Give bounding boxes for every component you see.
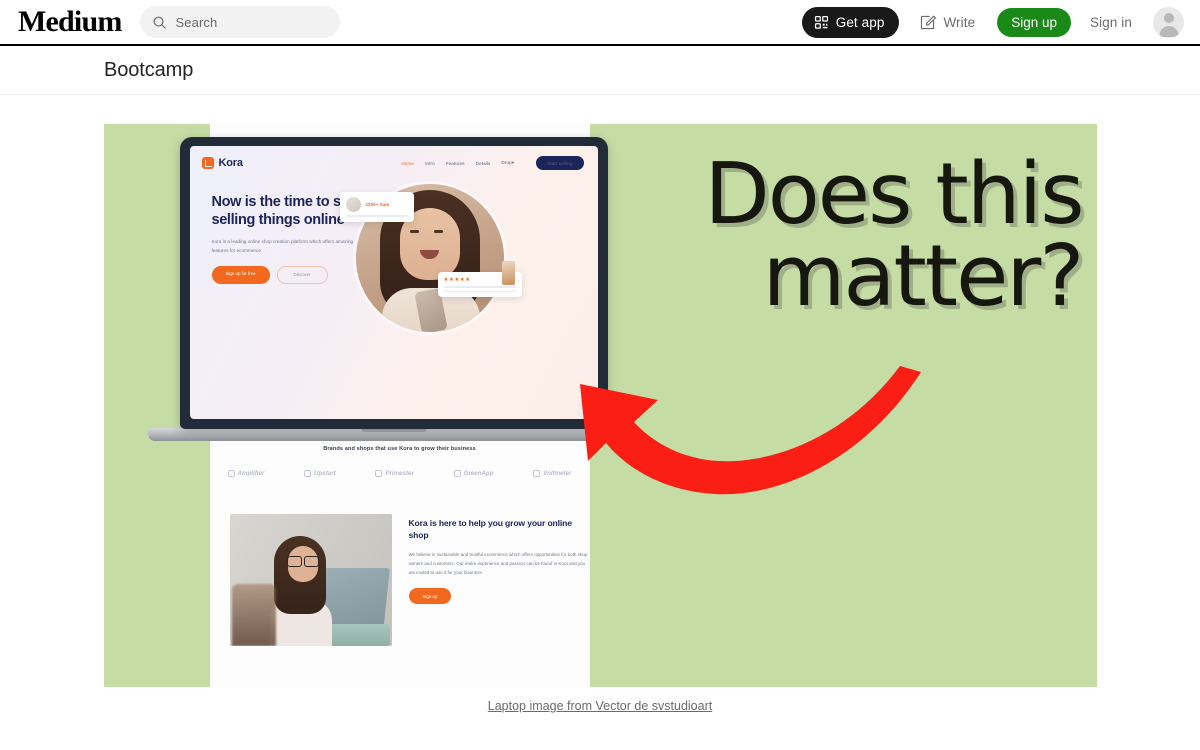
brand-icon [304, 470, 311, 477]
kora-logo-label: Kora [219, 157, 243, 169]
grow-shop-signup-button[interactable]: Sign up [409, 588, 452, 604]
grow-shop-title: Kora is here to help you grow your onlin… [409, 518, 590, 541]
write-button[interactable]: Write [919, 14, 975, 31]
woman-at-laptop-photo [230, 514, 392, 646]
write-label: Write [943, 15, 975, 30]
kora-nav-details[interactable]: Details [476, 161, 491, 166]
laptop-mockup: Kora Home Intro Features Details Drop▾ S… [180, 137, 608, 443]
chevron-down-icon: ▾ [512, 160, 514, 165]
kora-nav-home[interactable]: Home [401, 161, 414, 166]
figure-caption-link[interactable]: Laptop image from Vector de svstudioart [488, 699, 712, 713]
overlay-headline: Does this matter? [653, 154, 1083, 319]
brand-label: GreenApp [464, 470, 494, 477]
brand-logo-greenapp: GreenApp [454, 470, 494, 477]
sales-badge-label: 1200+ Sale [366, 202, 390, 207]
get-app-button[interactable]: Get app [802, 7, 900, 38]
brand-label: Upstart [314, 470, 336, 477]
review-product-thumbnail [502, 261, 515, 285]
kora-signup-free-button[interactable]: Sign up for free [212, 266, 270, 284]
search-input[interactable]: Search [140, 6, 340, 38]
kora-nav-links: Home Intro Features Details Drop▾ Start … [401, 156, 583, 170]
article-body: Brands and shops that use Kora to grow t… [0, 95, 1200, 713]
brand-icon [454, 470, 461, 477]
hero-image: Brands and shops that use Kora to grow t… [104, 124, 1097, 687]
brand-logo-amplifier: Amplifier [228, 470, 265, 477]
brand-icon [533, 470, 540, 477]
brand-label: Primester [385, 470, 414, 477]
brands-strip: Brands and shops that use Kora to grow t… [210, 446, 590, 477]
brand-logo-primester: Primester [375, 470, 414, 477]
photo-glasses [287, 556, 319, 565]
sign-up-button[interactable]: Sign up [997, 8, 1071, 37]
brand-icon [228, 470, 235, 477]
photo-eye-right [434, 230, 443, 233]
article-figure: Brands and shops that use Kora to grow t… [104, 124, 1097, 713]
sales-badge-thumbnail [346, 197, 361, 212]
kora-site-nav: Kora Home Intro Features Details Drop▾ S… [190, 146, 598, 180]
laptop-lid: Kora Home Intro Features Details Drop▾ S… [180, 137, 608, 429]
kora-logo-icon [202, 157, 214, 169]
placeholder-bar [444, 286, 516, 288]
brand-label: Amplifier [238, 470, 265, 477]
kora-hero-visual: 1200+ Sale ★★★★★ [340, 176, 530, 351]
qr-code-icon [814, 15, 829, 30]
grow-shop-copy: Kora is here to help you grow your onlin… [409, 514, 590, 646]
kora-logo[interactable]: Kora [202, 157, 243, 169]
write-pencil-icon [919, 14, 936, 31]
grow-shop-section: Kora is here to help you grow your onlin… [210, 514, 590, 646]
curved-red-arrow-icon [566, 366, 926, 506]
kora-nav-features[interactable]: Features [446, 161, 465, 166]
search-placeholder: Search [176, 15, 218, 30]
site-header: Medium Search Get app Write Sign up Sign… [0, 0, 1200, 46]
kora-hero: Now is the time to start selling things … [190, 180, 598, 284]
brand-logo-upstart: Upstart [304, 470, 336, 477]
figure-caption: Laptop image from Vector de svstudioart [104, 699, 1097, 713]
star-rating-icon: ★★★★★ [444, 277, 471, 283]
kora-discover-button[interactable]: Discover [277, 266, 328, 284]
laptop-screen: Kora Home Intro Features Details Drop▾ S… [190, 146, 598, 419]
publication-bar: Bootcamp [0, 46, 1200, 95]
sign-in-link[interactable]: Sign in [1090, 15, 1132, 30]
placeholder-bar [346, 215, 408, 217]
photo-foreground-jars [232, 584, 276, 646]
sales-badge-card: 1200+ Sale [340, 192, 414, 222]
avatar[interactable] [1153, 7, 1184, 38]
placeholder-bar [444, 291, 516, 293]
medium-logo[interactable]: Medium [18, 7, 122, 37]
kora-nav-intro[interactable]: Intro [425, 161, 435, 166]
kora-nav-drop[interactable]: Drop▾ [501, 160, 514, 166]
brands-title: Brands and shops that use Kora to grow t… [210, 446, 590, 452]
get-app-label: Get app [836, 15, 885, 30]
kora-start-selling-button[interactable]: Start selling [536, 156, 583, 170]
search-icon [152, 15, 167, 30]
grow-shop-body: We believe in sustainable and trustful e… [409, 550, 590, 577]
publication-title[interactable]: Bootcamp [104, 59, 193, 82]
photo-eye-left [410, 230, 419, 233]
brand-logo-row: Amplifier Upstart Primester GreenApp [210, 470, 590, 477]
brand-icon [375, 470, 382, 477]
review-badge-card: ★★★★★ [438, 272, 522, 297]
sales-badge-row: 1200+ Sale [346, 197, 408, 212]
